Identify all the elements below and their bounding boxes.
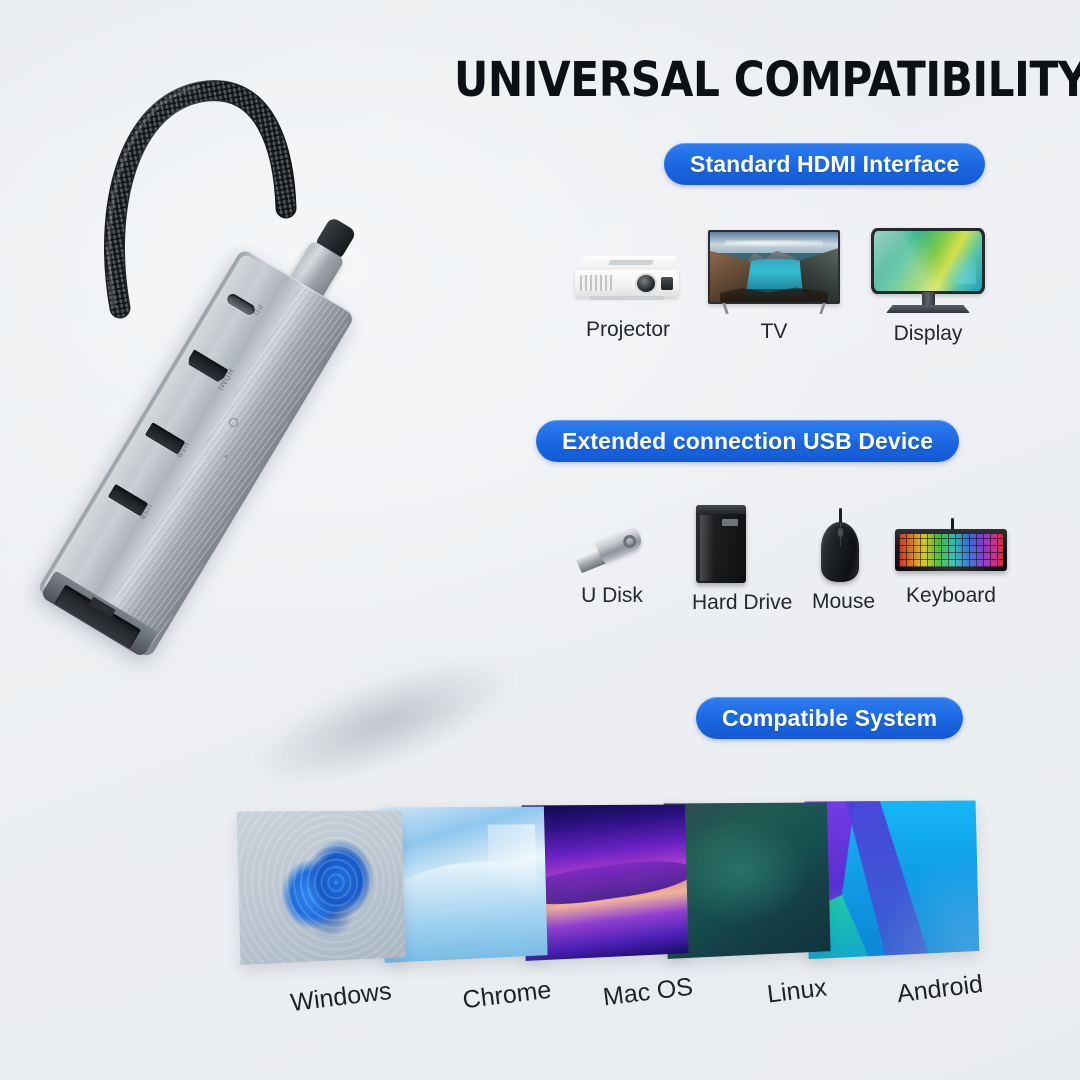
keyboard-icon: [895, 518, 1007, 578]
device-projector: Projector: [573, 256, 683, 342]
os-card-linux: [664, 803, 831, 959]
product-image-usb-c-hub: PD HDMI USB USB: [88, 58, 488, 758]
usb-flash-drive-icon: [574, 518, 650, 578]
device-label: Keyboard: [895, 584, 1007, 608]
device-tv: TV: [708, 230, 840, 344]
linux-card: [664, 803, 831, 959]
chrome-card: [381, 807, 548, 963]
infographic-page: PD HDMI USB USB UNIVERSAL COMPATIBILITY …: [0, 0, 1080, 1080]
device-label: Projector: [573, 318, 683, 342]
os-label-chrome: Chrome: [431, 972, 583, 1019]
os-label-macos: Mac OS: [572, 969, 724, 1016]
badge-compatible-system: Compatible System: [696, 697, 963, 739]
mouse-icon: [812, 508, 868, 584]
os-card-windows: [237, 810, 406, 964]
device-label: U Disk: [574, 584, 650, 608]
device-keyboard: Keyboard: [895, 518, 1007, 608]
page-title: UNIVERSAL COMPATIBILITY: [454, 52, 982, 108]
android-card: [805, 801, 980, 960]
device-label: TV: [708, 320, 840, 344]
os-card-chrome: [381, 807, 548, 963]
os-label-windows: Windows: [265, 974, 417, 1021]
compatible-systems-row: Windows Chrome Mac OS Linux Android: [0, 795, 1080, 1080]
device-mouse: Mouse: [812, 508, 868, 614]
badge-standard-hdmi-interface: Standard HDMI Interface: [664, 143, 985, 185]
tv-icon: [708, 230, 840, 314]
os-label-android: Android: [864, 966, 1016, 1013]
windows-card: [237, 810, 406, 964]
monitor-icon: [871, 228, 985, 316]
hard-drive-icon: [692, 505, 754, 585]
projector-icon: [573, 256, 683, 312]
device-u-disk: U Disk: [574, 518, 650, 608]
device-hard-drive: Hard Drive: [692, 505, 754, 615]
product-drop-shadow: [231, 631, 534, 815]
os-label-linux: Linux: [721, 968, 873, 1015]
device-label: Display: [871, 322, 985, 346]
os-card-android: [805, 801, 980, 960]
device-display: Display: [871, 228, 985, 346]
badge-extended-connection-usb-device: Extended connection USB Device: [536, 420, 959, 462]
device-label: Mouse: [812, 590, 868, 614]
device-label: Hard Drive: [692, 591, 754, 615]
